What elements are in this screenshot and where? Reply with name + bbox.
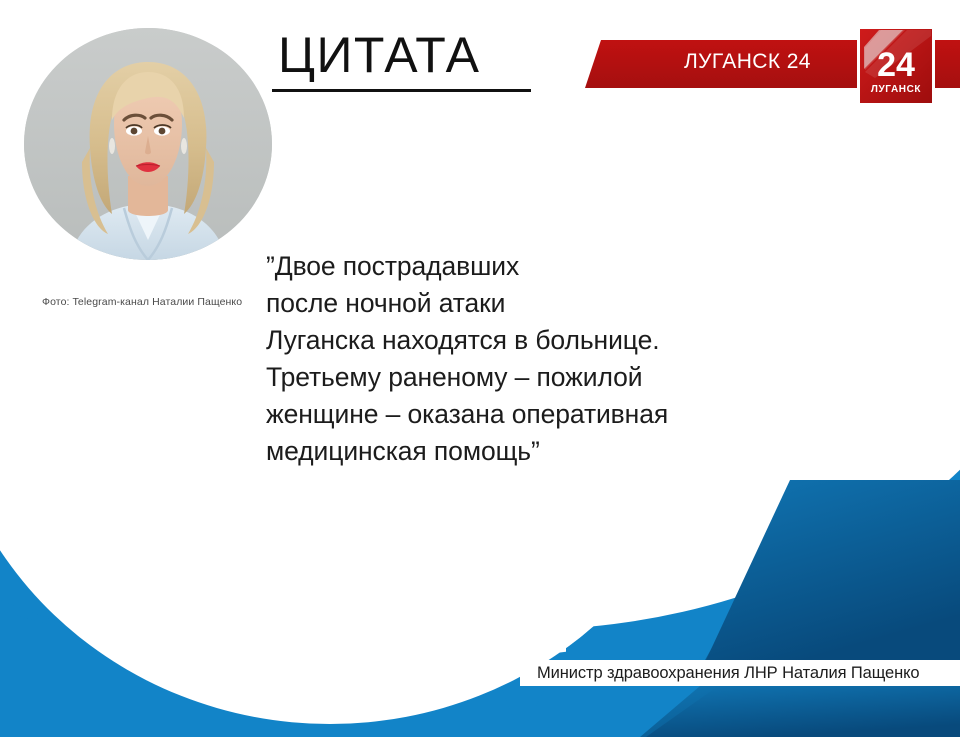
title-block: ЦИТАТА xyxy=(278,30,531,92)
channel-banner-label: ЛУГАНСК 24 xyxy=(684,50,811,74)
luhansk24-logo[interactable]: 24 ЛУГАНСК 24 ЛУГАНСК xyxy=(857,26,935,106)
logo-icon: 24 ЛУГАНСК xyxy=(857,26,935,106)
svg-text:ЛУГАНСК: ЛУГАНСК xyxy=(871,84,922,95)
portrait-container: Фото: Telegram-канал Наталии Пащенко xyxy=(24,28,272,260)
quote-card: Фото: Telegram-канал Наталии Пащенко ЦИТ… xyxy=(0,0,960,737)
photo-credit-caption: Фото: Telegram-канал Наталии Пащенко xyxy=(42,296,302,308)
quote-text: ”Двое пострадавших после ночной атаки Лу… xyxy=(266,248,766,470)
portrait-illustration xyxy=(24,28,272,260)
svg-text:24: 24 xyxy=(877,46,915,84)
portrait-photo xyxy=(24,28,272,260)
quote-attribution: Министр здравоохранения ЛНР Наталия Паще… xyxy=(537,664,920,683)
page-title: ЦИТАТА xyxy=(278,30,531,80)
title-underline xyxy=(272,89,531,92)
